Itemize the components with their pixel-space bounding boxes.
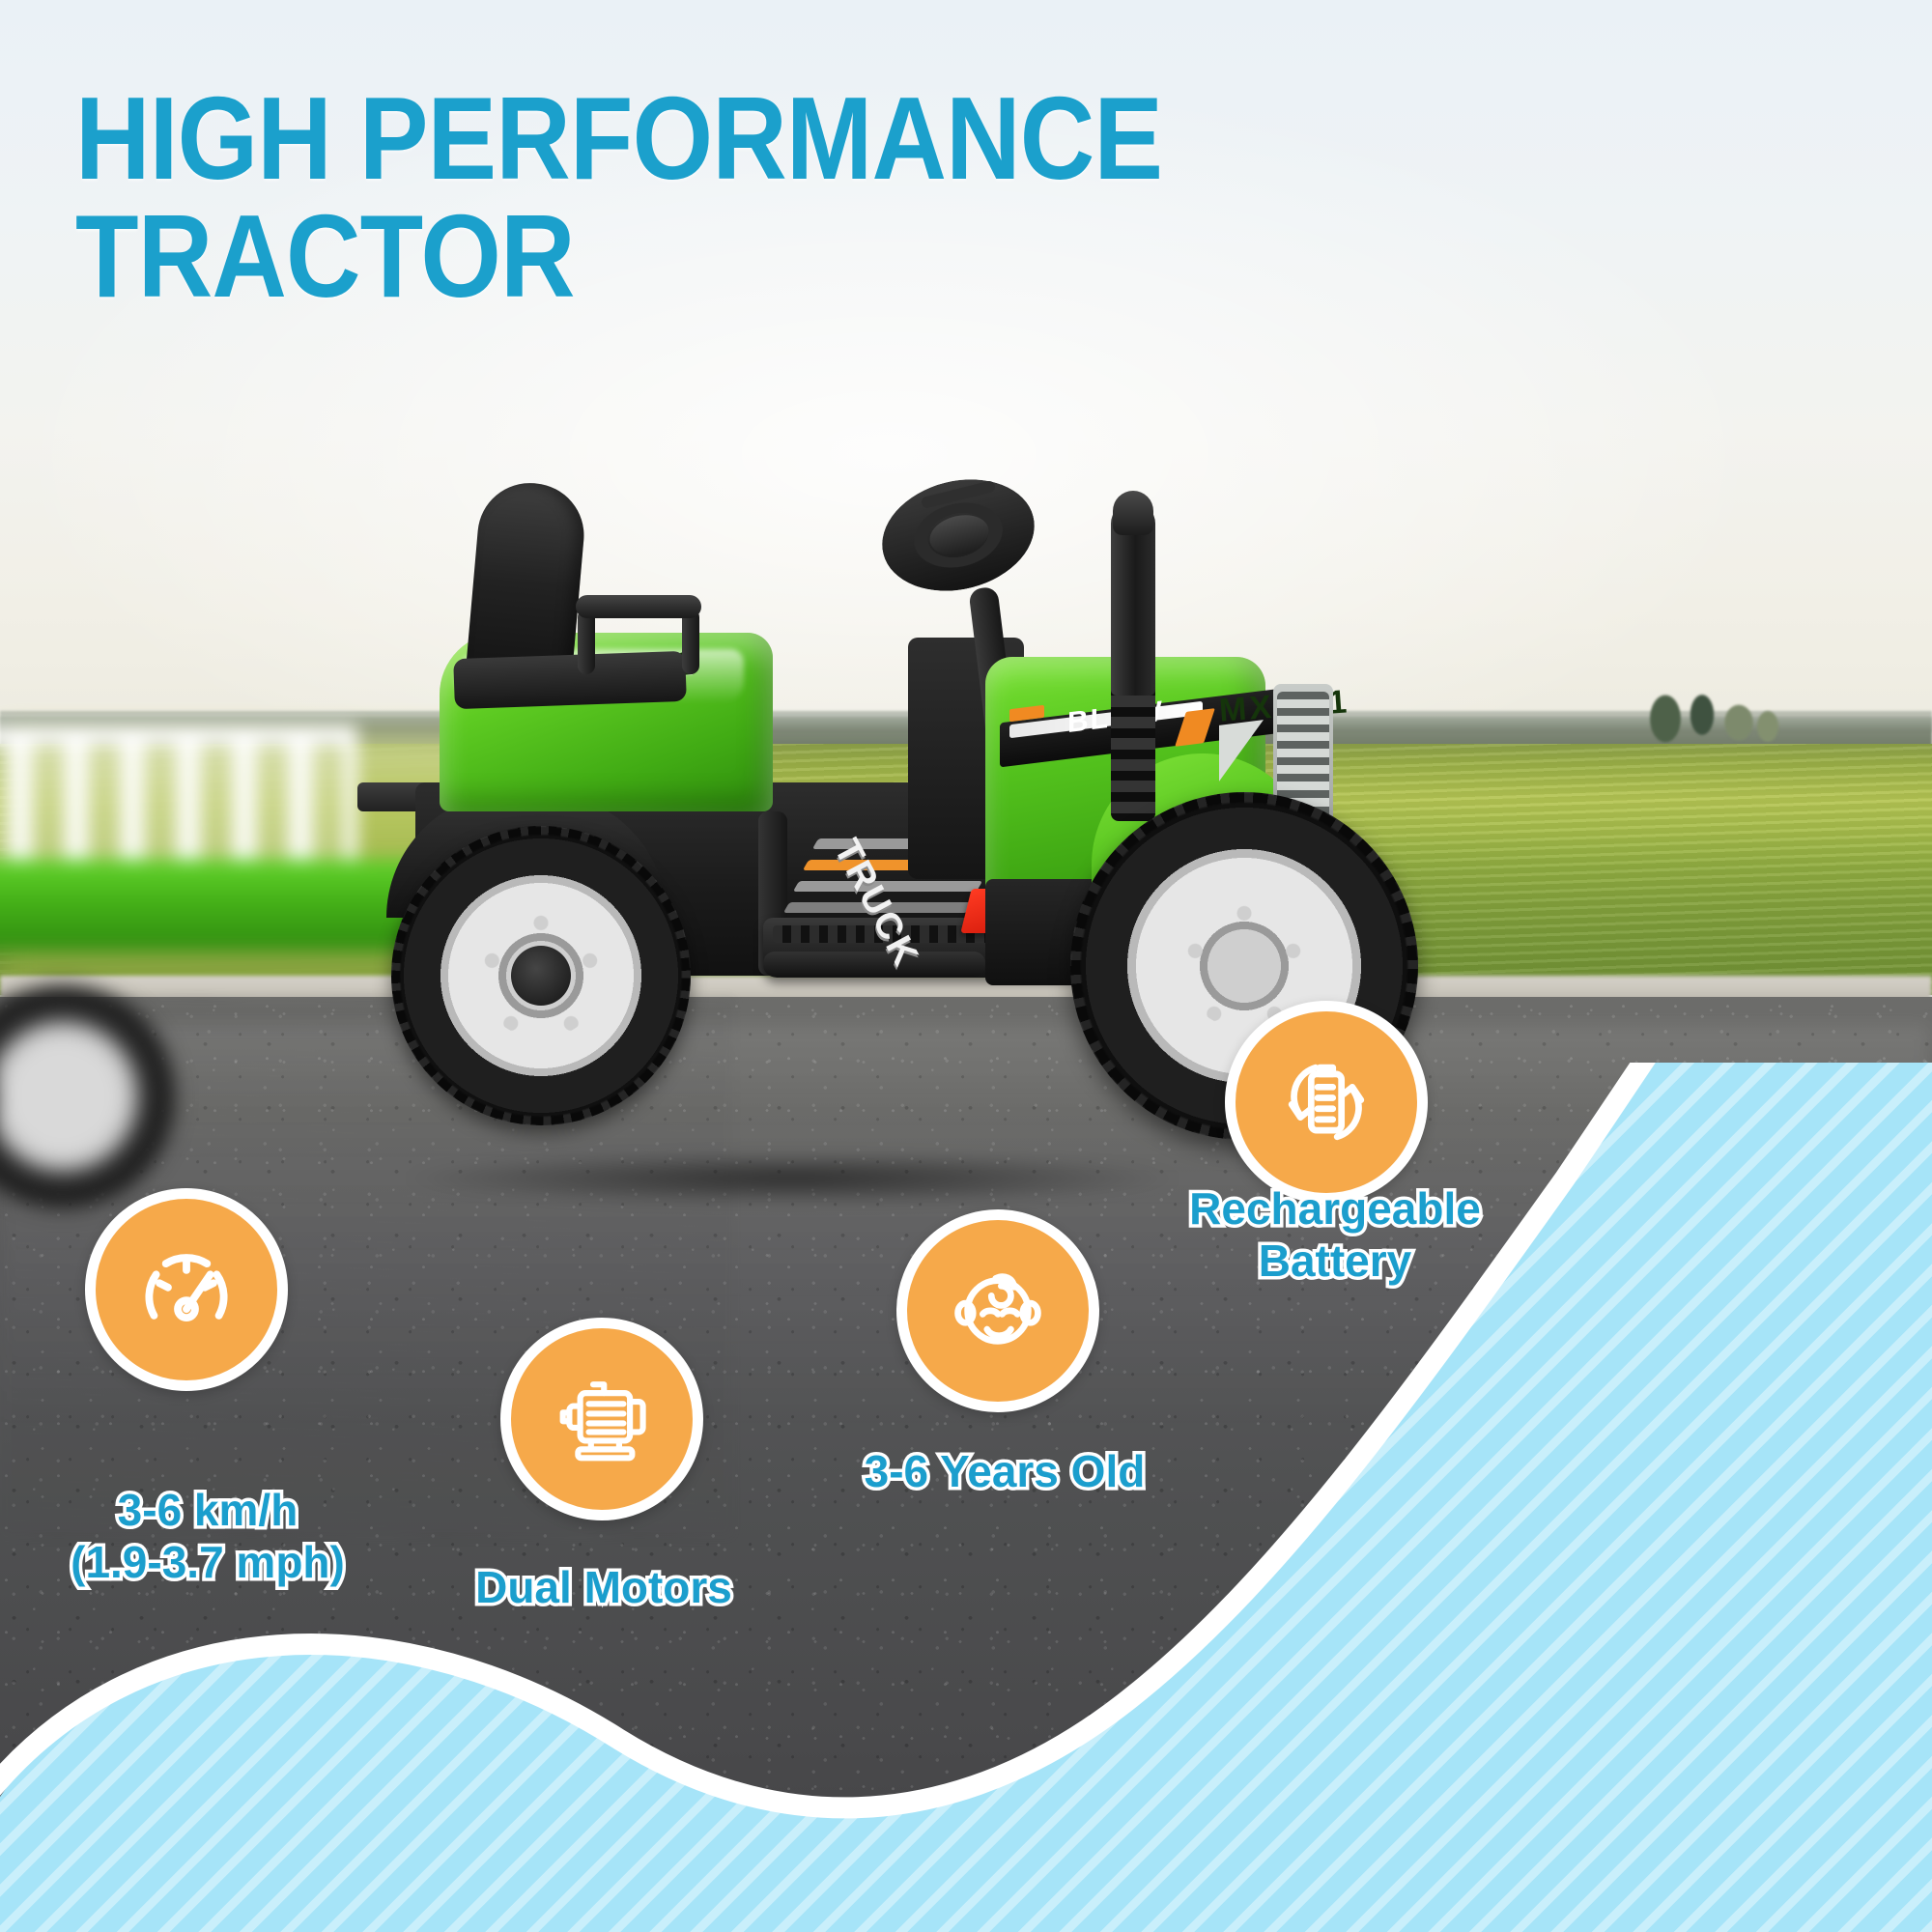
feature-badge-motors[interactable] xyxy=(500,1318,703,1520)
seat-base xyxy=(453,651,687,709)
feature-badge-speed[interactable] xyxy=(85,1188,288,1391)
baby-face-icon xyxy=(944,1257,1052,1365)
trailer-rail-top xyxy=(0,724,357,746)
feature-caption-age: 3-6 Years Old xyxy=(831,1445,1179,1497)
page-headline: HIGH PERFORMANCE TRACTOR xyxy=(75,79,1350,315)
feature-band: 3-6 km/h (1.9-3.7 mph) Dual Motors xyxy=(0,1063,1932,1932)
headline-line-1: HIGH PERFORMANCE xyxy=(75,79,1350,197)
feature-badge-age[interactable] xyxy=(896,1209,1099,1412)
feature-badge-battery[interactable] xyxy=(1225,1001,1428,1204)
exhaust-cap xyxy=(1113,491,1153,535)
feature-caption-battery-line2: Battery xyxy=(1180,1235,1490,1287)
feature-caption-speed: 3-6 km/h (1.9-3.7 mph) xyxy=(0,1484,415,1589)
lower-step-bar xyxy=(763,952,985,977)
grab-bar xyxy=(576,595,701,618)
rechargeable-battery-icon xyxy=(1272,1048,1380,1156)
hubcap xyxy=(511,946,571,1006)
tree-clump xyxy=(1642,676,1787,752)
trailer-side-rail xyxy=(0,734,357,879)
grab-bar-leg xyxy=(578,609,595,674)
feature-caption-speed-line2: (1.9-3.7 mph) xyxy=(0,1536,415,1588)
speedometer-icon xyxy=(132,1236,241,1344)
feature-caption-motors: Dual Motors xyxy=(454,1561,753,1613)
trailer-body xyxy=(0,860,425,952)
grab-bar-leg xyxy=(682,609,699,674)
electric-motor-icon xyxy=(548,1365,656,1473)
feature-caption-battery-line1: Rechargeable xyxy=(1180,1182,1490,1235)
feature-caption-motors-line1: Dual Motors xyxy=(454,1561,753,1613)
product-marketing-image: TRUCK MX-611 BLOW MX-611 xyxy=(0,0,1932,1932)
feature-caption-battery: Rechargeable Battery xyxy=(1180,1182,1490,1288)
feature-caption-speed-line1: 3-6 km/h xyxy=(0,1484,415,1536)
feature-caption-age-line1: 3-6 Years Old xyxy=(831,1445,1179,1497)
headline-line-2: TRACTOR xyxy=(75,197,1350,315)
